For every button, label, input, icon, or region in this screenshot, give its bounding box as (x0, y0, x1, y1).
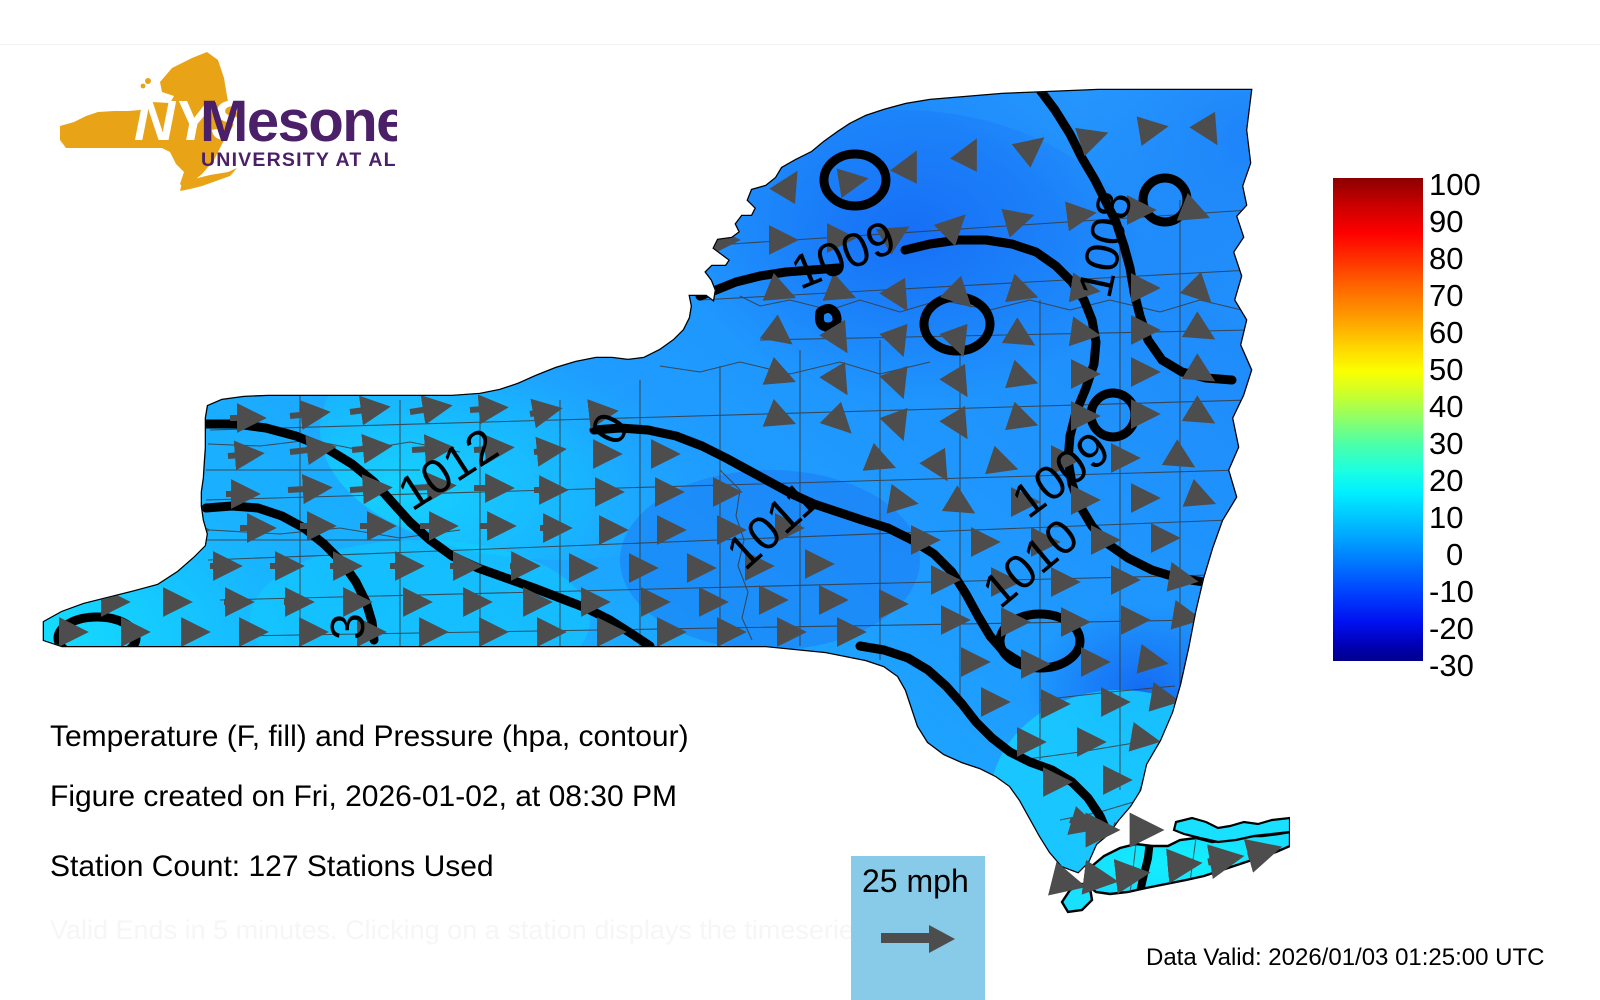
colorbar-gradient-swatch (1333, 178, 1423, 661)
contour-label-3-sw: 3 (322, 613, 375, 640)
station-count-line: Station Count: 127 Stations Used (50, 852, 494, 882)
colorbar-tick-60: 60 (1429, 317, 1577, 348)
colorbar-tick-80: 80 (1429, 243, 1577, 274)
temperature-colorbar: 100 90 80 70 60 50 40 30 20 10 0 -10 -20… (1333, 178, 1583, 664)
temperature-pressure-map[interactable]: 1009 1008 1012 1011 1009 1010 0 3 (0, 0, 1290, 960)
colorbar-tick-90: 90 (1429, 206, 1577, 237)
wind-speed-legend: 25 mph (851, 856, 985, 1000)
colorbar-tick-100: 100 (1429, 169, 1577, 200)
colorbar-tick-neg30: -30 (1429, 650, 1577, 681)
staten-island-outline (1062, 884, 1092, 912)
clipped-footer-line: Valid Ends in 5 minutes. Clicking on a s… (50, 915, 875, 945)
data-valid-timestamp: Data Valid: 2026/01/03 01:25:00 UTC (1146, 946, 1544, 970)
map-title-line: Temperature (F, fill) and Pressure (hpa,… (50, 722, 689, 752)
wind-legend-label: 25 mph (862, 863, 969, 899)
colorbar-tick-20: 20 (1429, 465, 1577, 496)
colorbar-tick-40: 40 (1429, 391, 1577, 422)
wind-legend-right-arrow-icon (881, 922, 957, 956)
colorbar-tick-0: 0 (1429, 539, 1594, 570)
colorbar-tick-neg20: -20 (1429, 613, 1577, 644)
colorbar-tick-50: 50 (1429, 354, 1577, 385)
figure-created-line: Figure created on Fri, 2026-01-02, at 08… (50, 782, 677, 812)
colorbar-tick-30: 30 (1429, 428, 1577, 459)
colorbar-tick-10: 10 (1429, 502, 1577, 533)
colorbar-tick-70: 70 (1429, 280, 1577, 311)
colorbar-tick-neg10: -10 (1429, 576, 1577, 607)
